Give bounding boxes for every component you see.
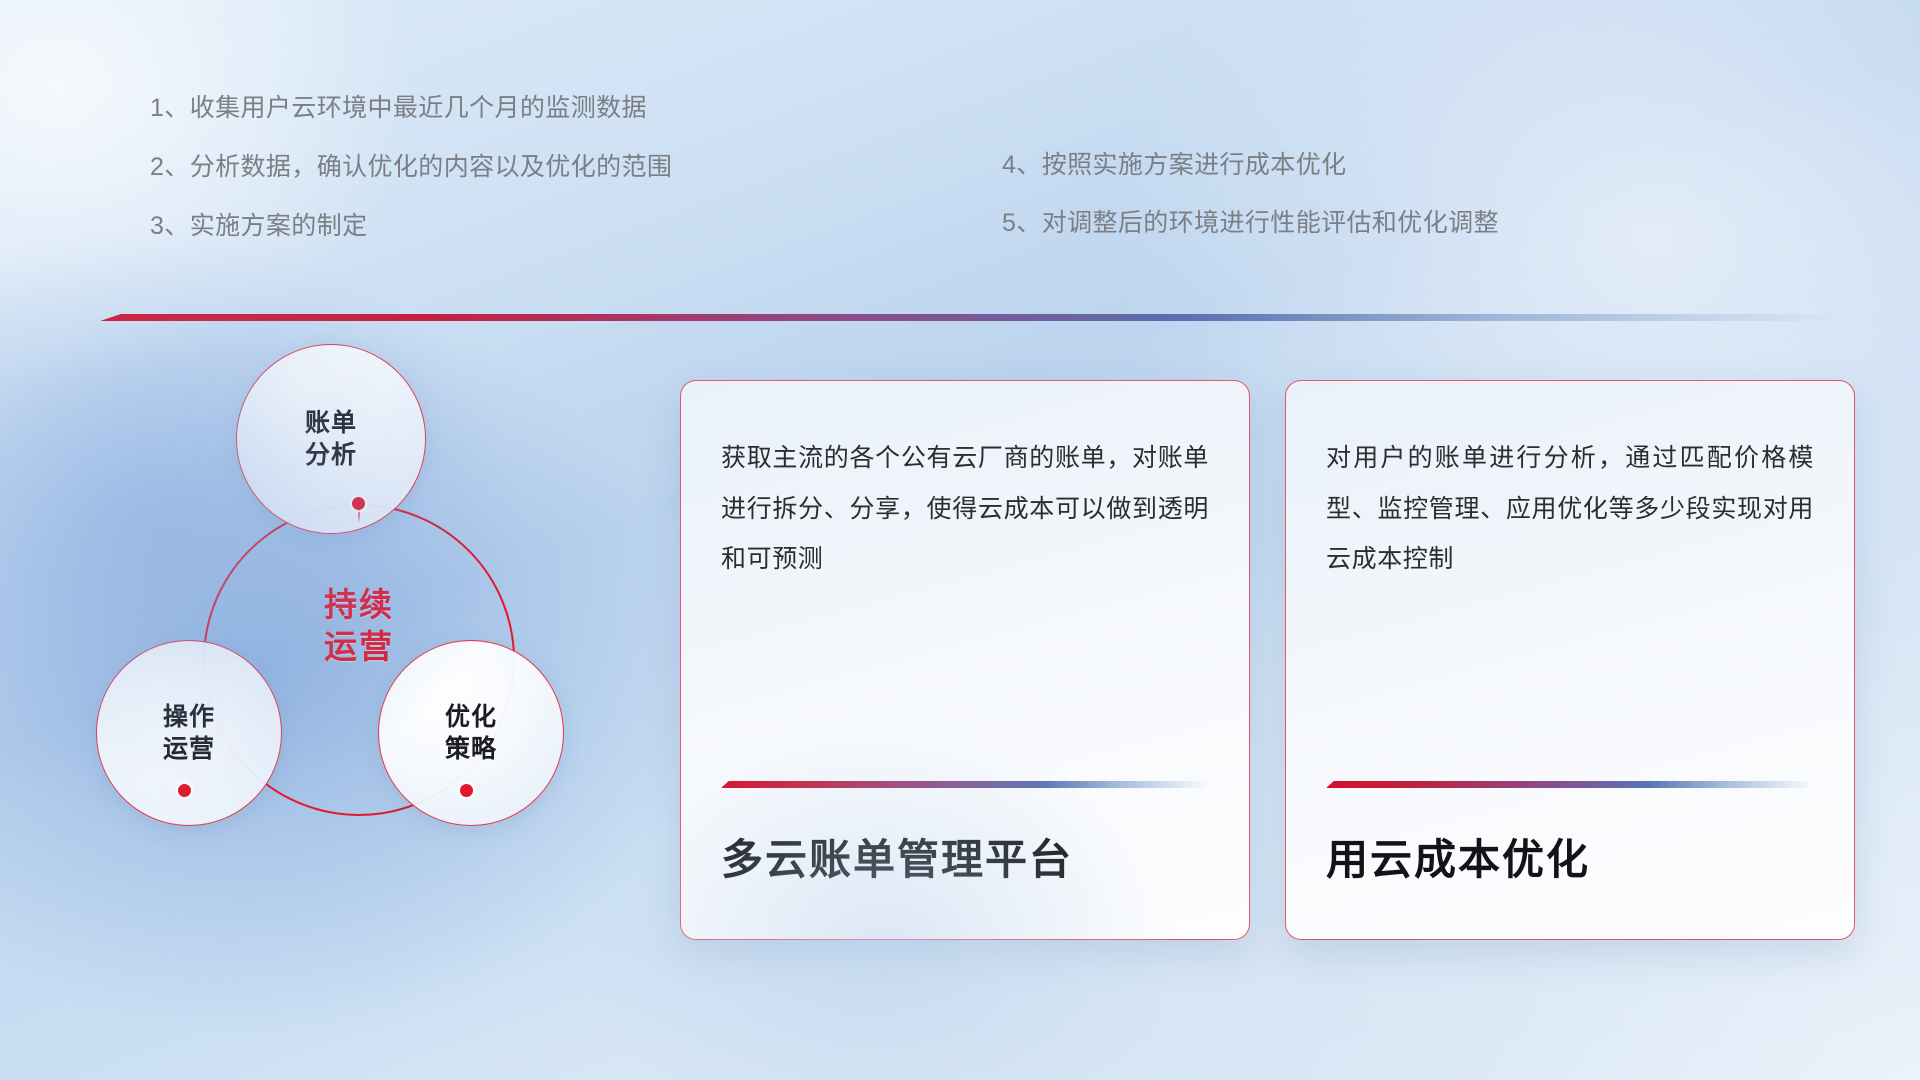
venn-node-dot-top	[352, 497, 365, 510]
venn-bubble-label: 账单 分析	[305, 407, 357, 472]
venn-bubble-ops-operation[interactable]: 操作 运营	[96, 640, 282, 826]
info-card-title: 用云成本优化	[1326, 788, 1814, 939]
venn-bubble-optimize-strategy[interactable]: 优化 策略	[378, 640, 564, 826]
info-card-multi-cloud-billing[interactable]: 获取主流的各个公有云厂商的账单，对账单进行拆分、分享，使得云成本可以做到透明和可…	[680, 380, 1250, 940]
venn-diagram: 持续 运营 账单 分析 操作 运营 优化 策略	[95, 352, 635, 952]
section-divider	[100, 314, 1845, 321]
steps-right-column: 4、按照实施方案进行成本优化 5、对调整后的环境进行性能评估和优化调整	[1002, 153, 1499, 269]
venn-node-dot-left	[178, 784, 191, 797]
step-item-1: 1、收集用户云环境中最近几个月的监测数据	[150, 96, 672, 121]
step-item-2: 2、分析数据，确认优化的内容以及优化的范围	[150, 155, 672, 180]
step-item-5: 5、对调整后的环境进行性能评估和优化调整	[1002, 211, 1499, 236]
venn-connector-stem	[358, 508, 360, 524]
info-card-body: 获取主流的各个公有云厂商的账单，对账单进行拆分、分享，使得云成本可以做到透明和可…	[721, 433, 1209, 775]
info-card-title: 多云账单管理平台	[721, 788, 1209, 939]
venn-bubble-label: 操作 运营	[163, 701, 215, 766]
info-card-body: 对用户的账单进行分析，通过匹配价格模型、监控管理、应用优化等多少段实现对用云成本…	[1326, 433, 1814, 775]
info-card-cloud-cost-optimization[interactable]: 对用户的账单进行分析，通过匹配价格模型、监控管理、应用优化等多少段实现对用云成本…	[1285, 380, 1855, 940]
venn-node-dot-right	[460, 784, 473, 797]
venn-bubble-label: 优化 策略	[445, 701, 497, 766]
info-card-rule	[721, 781, 1209, 788]
step-item-4: 4、按照实施方案进行成本优化	[1002, 153, 1499, 178]
slide-canvas: 1、收集用户云环境中最近几个月的监测数据 2、分析数据，确认优化的内容以及优化的…	[0, 0, 1920, 1080]
venn-bubble-bill-analysis[interactable]: 账单 分析	[236, 344, 426, 534]
info-card-rule	[1326, 781, 1814, 788]
step-item-3: 3、实施方案的制定	[150, 214, 672, 239]
steps-left-column: 1、收集用户云环境中最近几个月的监测数据 2、分析数据，确认优化的内容以及优化的…	[150, 96, 672, 273]
